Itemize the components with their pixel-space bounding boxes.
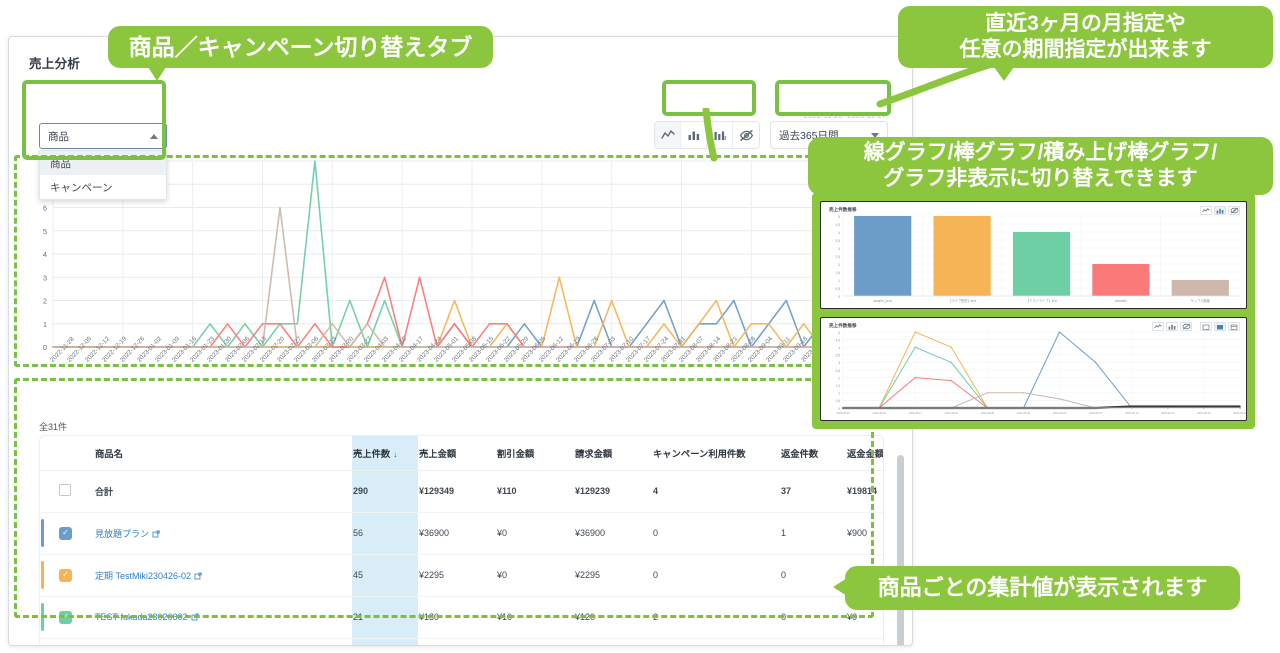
svg-text:サンプル動画: サンプル動画 [1191, 298, 1210, 303]
inset-bar-toolbar[interactable] [1200, 206, 1240, 215]
row-discount-amount: ¥0 [496, 512, 574, 554]
svg-text:4.5: 4.5 [836, 338, 841, 342]
callout-date-range-line1: 直近3ヶ月の月指定や [985, 11, 1186, 37]
svg-text:3.5: 3.5 [835, 239, 840, 243]
svg-text:0: 0 [838, 295, 840, 299]
row-campaign-uses: 4 [652, 470, 780, 512]
row-campaign-uses: 0 [652, 554, 780, 596]
th-refund-amount[interactable]: 返金金額 [846, 436, 884, 470]
inset-bar-chart-title: 売上件数推移 [829, 207, 857, 213]
svg-text:2023-08-30: 2023-08-30 [1017, 411, 1031, 415]
svg-text:2: 2 [838, 376, 840, 380]
sort-desc-icon: ↓ [393, 450, 397, 459]
callout-chart-type-line2: グラフ非表示に切り替えできます [883, 166, 1197, 192]
svg-text:4: 4 [838, 346, 840, 350]
line-chart-icon [1202, 208, 1210, 213]
svg-text:4.5: 4.5 [835, 223, 840, 227]
svg-text:5: 5 [838, 331, 840, 335]
row-checkbox-cell[interactable] [58, 470, 94, 512]
product-link[interactable]: 定期 TestMiki230426-02 [95, 571, 191, 581]
table-scrollbar[interactable] [897, 455, 904, 646]
products-table: 商品名 売上件数↓ 売上金額 割引金額 請求金額 キャンペーン利用件数 返金件数… [39, 435, 884, 646]
svg-text:0: 0 [43, 343, 47, 352]
callout-date-range: 直近3ヶ月の月指定や 任意の期間指定が出来ます [898, 6, 1273, 68]
table-row[interactable]: ✓見放題プラン56¥36900¥0¥3690001¥900 [40, 512, 884, 554]
inset-line-toolbar[interactable] [1152, 322, 1240, 331]
callout-tail [833, 578, 847, 596]
row-sales-amount: ¥36900 [418, 512, 496, 554]
row-sales-amount: ¥129349 [418, 470, 496, 512]
svg-text:2023-09-07: 2023-09-07 [1089, 411, 1103, 415]
svg-text:0: 0 [838, 407, 840, 411]
line-chart-icon [661, 130, 675, 140]
callout-tab-switch: 商品／キャンペーン切り替えタブ [108, 26, 493, 68]
mode-select[interactable]: 商品 商品 キャンペーン [39, 123, 167, 200]
eye-off-icon [1182, 323, 1191, 330]
th-billed-amount[interactable]: 請求金額 [574, 436, 652, 470]
svg-text:1: 1 [838, 392, 840, 396]
row-name[interactable]: TEST-fukuda23020602 [94, 596, 352, 638]
table-row-total: 合計290¥129349¥110¥129239437¥19814 [40, 470, 884, 512]
chart-x-axis-labels: 2022-11-282022-12-052022-12-122022-12-19… [27, 355, 895, 415]
th-color [40, 436, 58, 470]
svg-text:2.5: 2.5 [836, 369, 841, 373]
th-discount-amount[interactable]: 割引金額 [496, 436, 574, 470]
row-sales-count: 45 [352, 554, 418, 596]
inset-bar-chart-svg: 00.511.522.533.544.55sample_prod【ライブ配信】t… [821, 202, 1247, 309]
row-color-bar [40, 512, 58, 554]
svg-text:2023-08-28: 2023-08-28 [981, 411, 995, 415]
row-sales-amount: ¥130 [418, 596, 496, 638]
row-color-bar [40, 638, 58, 646]
row-billed-amount: ¥2295 [574, 554, 652, 596]
mode-select-box[interactable]: 商品 [39, 123, 167, 149]
bar-chart-button[interactable] [1214, 206, 1226, 215]
inset-examples: 売上件数推移 00.511 [812, 193, 1255, 429]
svg-text:2023-08-17: 2023-08-17 [909, 411, 923, 415]
svg-text:5: 5 [43, 227, 47, 236]
svg-text:1.5: 1.5 [835, 271, 840, 275]
products-table-element: 商品名 売上件数↓ 売上金額 割引金額 請求金額 キャンペーン利用件数 返金件数… [40, 436, 884, 646]
svg-text:【ライブ配信】test: 【ライブ配信】test [948, 298, 976, 303]
row-refund-amount: ¥19814 [846, 470, 884, 512]
bar-chart-icon [1216, 208, 1224, 214]
svg-text:2023-09-23: 2023-09-23 [1233, 411, 1247, 415]
row-refund-count: 1 [780, 512, 846, 554]
row-name[interactable]: 定期 TestMiki230426-02 [94, 554, 352, 596]
row-sales-count: 19 [352, 638, 418, 646]
row-discount-amount: ¥10 [496, 596, 574, 638]
svg-text:devsbiki: devsbiki [1115, 299, 1127, 303]
eye-off-icon [1230, 207, 1239, 214]
hide-chart-button[interactable] [1228, 206, 1240, 215]
check-circle-icon[interactable]: ✓ [59, 569, 72, 582]
table-row[interactable]: ✓定期 TestMiki230426-0245¥2295¥0¥229500¥0 [40, 554, 884, 596]
line-chart-button[interactable] [1152, 322, 1164, 331]
row-billed-amount: ¥129239 [574, 470, 652, 512]
mode-option-product[interactable]: 商品 [40, 151, 166, 175]
line-chart-button[interactable] [1200, 206, 1212, 215]
row-sales-amount: ¥209 [418, 638, 496, 646]
table-row[interactable]: ✓TEST-fukuda19¥209¥0¥20901¥11 [40, 638, 884, 646]
row-billed-amount: ¥209 [574, 638, 652, 646]
callout-date-range-line2: 任意の期間指定が出来ます [960, 37, 1212, 63]
line-chart-icon [1154, 324, 1162, 329]
month-button[interactable] [1228, 322, 1240, 331]
callout-per-product-text: 商品ごとの集計値が表示されます [878, 574, 1208, 602]
svg-text:0.5: 0.5 [835, 287, 840, 291]
row-refund-count: 0 [780, 596, 846, 638]
row-color-bar [40, 596, 58, 638]
svg-text:3.5: 3.5 [836, 354, 841, 358]
external-link-icon[interactable] [152, 530, 160, 538]
svg-text:2023-09-03: 2023-09-03 [1053, 411, 1067, 415]
inset-line-chart-title: 売上件数推移 [829, 323, 857, 329]
record-count-label: 全31件 [39, 420, 67, 433]
th-sales-count-label: 売上件数 [353, 449, 390, 459]
th-checkbox [58, 436, 94, 470]
th-product-name[interactable]: 商品名 [94, 436, 352, 470]
callout-per-product: 商品ごとの集計値が表示されます [845, 566, 1240, 610]
row-refund-amount: ¥11 [846, 638, 884, 646]
svg-text:2023-08-06: 2023-08-06 [872, 411, 886, 415]
row-sales-count: 21 [352, 596, 418, 638]
hide-chart-button[interactable] [1180, 322, 1192, 331]
svg-text:2023-08-03: 2023-08-03 [836, 411, 850, 415]
bar-chart-icon [687, 130, 701, 141]
row-billed-amount: ¥36900 [574, 512, 652, 554]
bar-chart-icon [1168, 324, 1176, 330]
mode-option-campaign[interactable]: キャンペーン [40, 175, 166, 199]
mode-select-menu[interactable]: 商品 キャンペーン [39, 150, 167, 200]
row-refund-count: 37 [780, 470, 846, 512]
row-discount-amount: ¥110 [496, 470, 574, 512]
mode-select-value: 商品 [48, 129, 150, 144]
chevron-up-icon [150, 134, 158, 139]
row-name: 合計 [94, 470, 352, 512]
row-sales-count: 56 [352, 512, 418, 554]
th-refund-count[interactable]: 返金件数 [780, 436, 846, 470]
row-discount-amount: ¥0 [496, 554, 574, 596]
row-campaign-uses: 0 [652, 638, 780, 646]
svg-text:3: 3 [838, 361, 840, 365]
svg-text:6: 6 [43, 204, 47, 213]
row-refund-count: 1 [780, 638, 846, 646]
line-chart-button[interactable] [655, 122, 681, 148]
row-sales-amount: ¥2295 [418, 554, 496, 596]
external-link-icon[interactable] [191, 613, 199, 621]
inset-line-chart-svg: 00.511.522.533.544.552023-08-032023-08-0… [821, 318, 1247, 421]
check-circle-icon[interactable]: ✓ [59, 527, 72, 540]
table-body: 合計290¥129349¥110¥129239437¥19814✓見放題プラン5… [40, 470, 884, 646]
row-refund-amount: ¥900 [846, 512, 884, 554]
svg-text:2: 2 [43, 297, 47, 306]
row-checkbox-cell[interactable]: ✓ [58, 512, 94, 554]
checkbox-icon[interactable] [59, 484, 71, 496]
table-header-row: 商品名 売上件数↓ 売上金額 割引金額 請求金額 キャンペーン利用件数 返金件数… [40, 436, 884, 470]
product-link[interactable]: TEST-fukuda23020602 [95, 612, 188, 622]
svg-text:3: 3 [43, 273, 47, 282]
svg-text:1.5: 1.5 [836, 384, 841, 388]
day-icon [1202, 324, 1210, 330]
svg-text:0.5: 0.5 [836, 399, 841, 403]
row-campaign-uses: 2 [652, 596, 780, 638]
row-name[interactable]: TEST-fukuda [94, 638, 352, 646]
check-circle-icon[interactable]: ✓ [59, 611, 72, 624]
table-row[interactable]: ✓TEST-fukuda2302060221¥130¥10¥12020¥0 [40, 596, 884, 638]
callout-chart-type-line1: 線グラフ/棒グラフ/積み上げ棒グラフ/ [864, 140, 1218, 166]
week-button[interactable] [1214, 322, 1226, 331]
week-icon [1216, 324, 1224, 330]
row-sales-count: 290 [352, 470, 418, 512]
th-sales-count[interactable]: 売上件数↓ [352, 436, 418, 470]
svg-text:【テストライブ】test: 【テストライブ】test [1026, 298, 1057, 303]
row-checkbox-cell[interactable]: ✓ [58, 638, 94, 646]
svg-text:3: 3 [838, 247, 840, 251]
day-button[interactable] [1200, 322, 1212, 331]
row-billed-amount: ¥120 [574, 596, 652, 638]
bar-chart-button[interactable] [1166, 322, 1178, 331]
row-checkbox-cell[interactable]: ✓ [58, 596, 94, 638]
svg-text:2023-09-19: 2023-09-19 [1197, 411, 1211, 415]
callout-tab-switch-text: 商品／キャンペーン切り替えタブ [129, 33, 473, 62]
svg-text:2: 2 [838, 263, 840, 267]
th-sales-amount[interactable]: 売上金額 [418, 436, 496, 470]
inset-line-chart: 売上件数推移 [820, 317, 1247, 421]
svg-text:5: 5 [838, 215, 840, 219]
svg-text:4: 4 [838, 231, 840, 235]
svg-text:1: 1 [43, 320, 47, 329]
row-discount-amount: ¥0 [496, 638, 574, 646]
svg-text:2023-09-14: 2023-09-14 [1161, 411, 1175, 415]
table-header: 商品名 売上件数↓ 売上金額 割引金額 請求金額 キャンペーン利用件数 返金件数… [40, 436, 884, 470]
month-icon [1230, 324, 1238, 330]
svg-text:2.5: 2.5 [835, 255, 840, 259]
row-checkbox-cell[interactable]: ✓ [58, 554, 94, 596]
callout-chart-type: 線グラフ/棒グラフ/積み上げ棒グラフ/ グラフ非表示に切り替えできます [808, 137, 1273, 195]
svg-text:4: 4 [43, 250, 47, 259]
row-color-bar [40, 470, 58, 512]
external-link-icon[interactable] [194, 572, 202, 580]
inset-bar-chart: 売上件数推移 00.511 [820, 201, 1247, 309]
svg-text:2023-08-20: 2023-08-20 [945, 411, 959, 415]
callout-tail [148, 67, 166, 81]
svg-text:2023-09-10: 2023-09-10 [1125, 411, 1139, 415]
row-color-bar [40, 554, 58, 596]
row-campaign-uses: 0 [652, 512, 780, 554]
svg-text:sample_prod: sample_prod [873, 299, 892, 303]
row-name[interactable]: 見放題プラン [94, 512, 352, 554]
product-link[interactable]: 見放題プラン [95, 529, 149, 539]
callout-tail [994, 67, 1014, 81]
th-campaign-uses[interactable]: キャンペーン利用件数 [652, 436, 780, 470]
svg-text:1: 1 [838, 279, 840, 283]
